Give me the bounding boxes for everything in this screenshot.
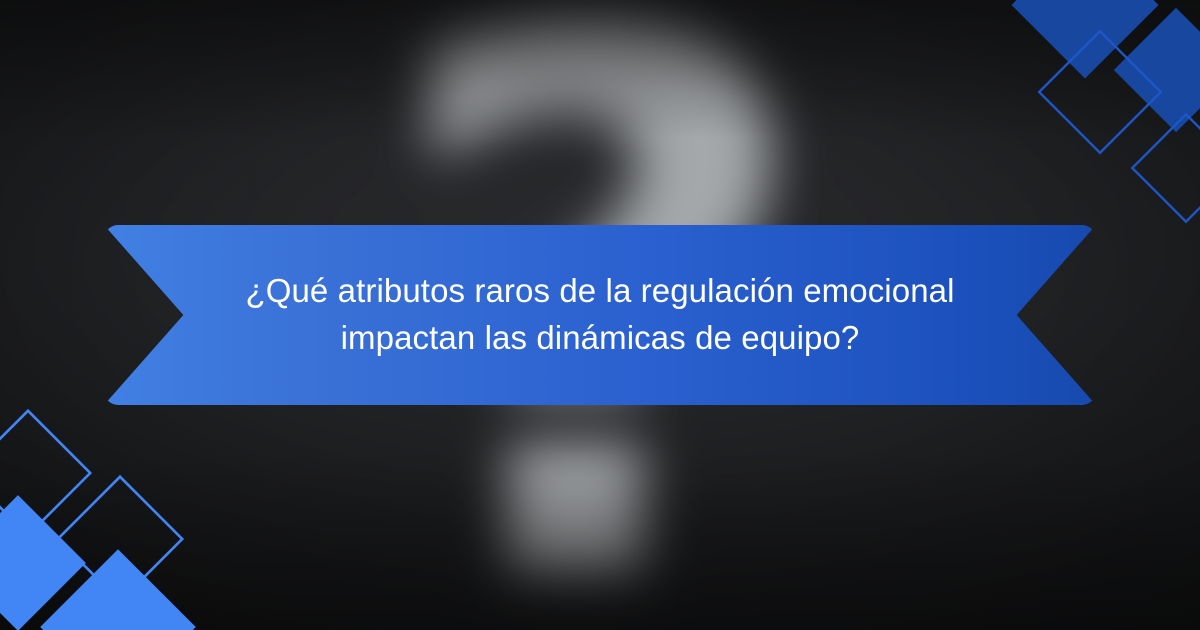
headline-banner: ¿Qué atributos raros de la regulación em… <box>104 225 1096 405</box>
diamond-cluster-top-right <box>990 0 1200 175</box>
diamond-cluster-bottom-left <box>0 415 215 630</box>
headline-text: ¿Qué atributos raros de la regulación em… <box>210 268 990 362</box>
social-share-card: ? <box>0 0 1200 630</box>
